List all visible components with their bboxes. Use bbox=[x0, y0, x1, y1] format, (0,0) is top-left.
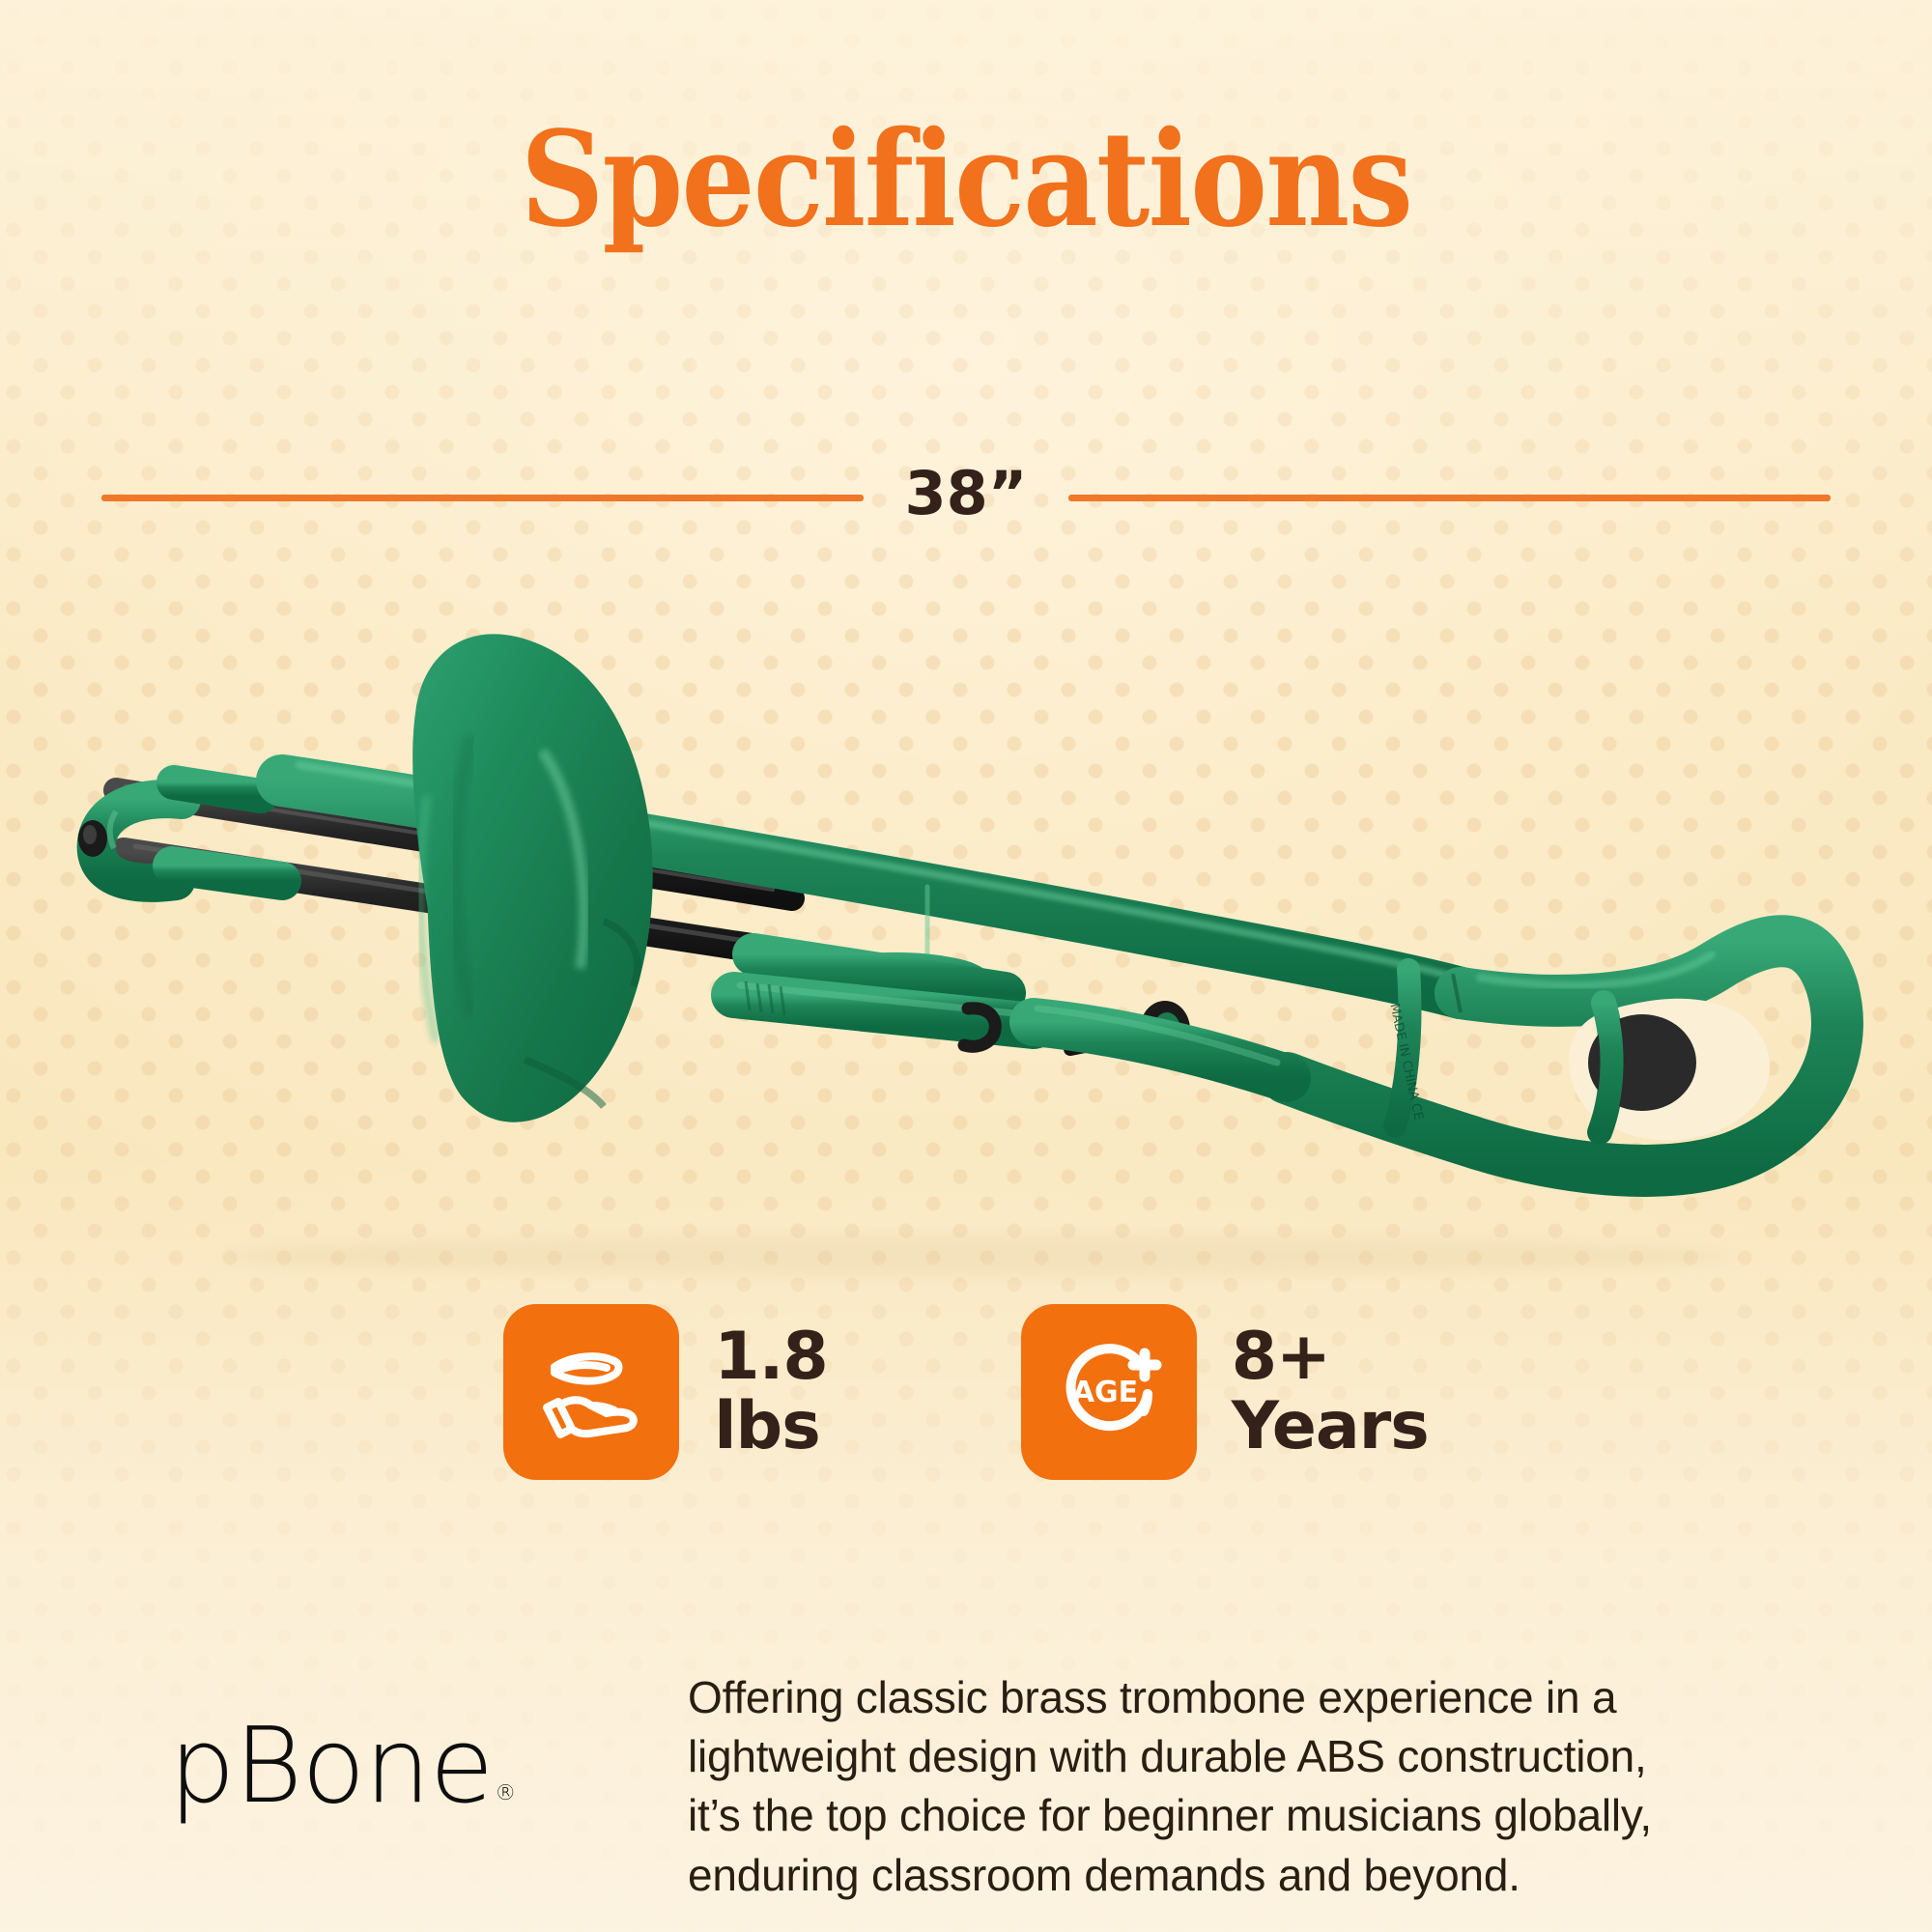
trombone-slide-crook bbox=[78, 782, 282, 883]
feature-list: 1.8 lbs AGE 8+ Years bbox=[0, 1304, 1932, 1480]
age-plus-icon: AGE bbox=[1051, 1334, 1167, 1450]
weight-unit: lbs bbox=[714, 1388, 819, 1464]
brand-name: pBone bbox=[169, 1706, 493, 1827]
product-image-trombone: MADE IN CHINA CE bbox=[58, 580, 1874, 1294]
specifications-page: Specifications 38” bbox=[0, 0, 1932, 1932]
feature-age: AGE 8+ Years bbox=[1021, 1304, 1429, 1480]
description-line: Offering classic brass trombone experien… bbox=[688, 1668, 1828, 1727]
weight-value: 1.8 lbs bbox=[714, 1322, 827, 1462]
measurement-label: 38” bbox=[864, 464, 1067, 524]
registered-trademark-mark: ® bbox=[495, 1781, 515, 1805]
description-line: lightweight design with durable ABS cons… bbox=[688, 1727, 1828, 1786]
weight-number: 1.8 bbox=[714, 1319, 827, 1395]
age-number: 8+ bbox=[1232, 1319, 1330, 1395]
age-icon-label: AGE bbox=[1072, 1376, 1138, 1409]
brand-logo: pBone® bbox=[169, 1715, 513, 1819]
product-description: Offering classic brass trombone experien… bbox=[688, 1668, 1828, 1905]
product-shadow bbox=[222, 1235, 1729, 1277]
page-title: Specifications bbox=[116, 114, 1816, 245]
hand-holding-leaf-icon bbox=[533, 1334, 649, 1450]
measurement-rule-right bbox=[1068, 495, 1831, 501]
measurement-bar: 38” bbox=[101, 454, 1831, 541]
feature-weight: 1.8 lbs bbox=[503, 1304, 827, 1480]
trombone-lower-tube bbox=[1034, 1009, 1287, 1078]
trombone-slide-receiver bbox=[734, 952, 1034, 1046]
age-icon-tile: AGE bbox=[1021, 1304, 1197, 1480]
age-value: 8+ Years bbox=[1232, 1322, 1429, 1462]
age-unit: Years bbox=[1232, 1388, 1429, 1464]
measurement-rule-left bbox=[101, 495, 864, 501]
description-line: enduring classroom demands and beyond. bbox=[688, 1846, 1828, 1905]
description-line: it’s the top choice for beginner musicia… bbox=[688, 1786, 1828, 1845]
weight-icon-tile bbox=[503, 1304, 679, 1480]
